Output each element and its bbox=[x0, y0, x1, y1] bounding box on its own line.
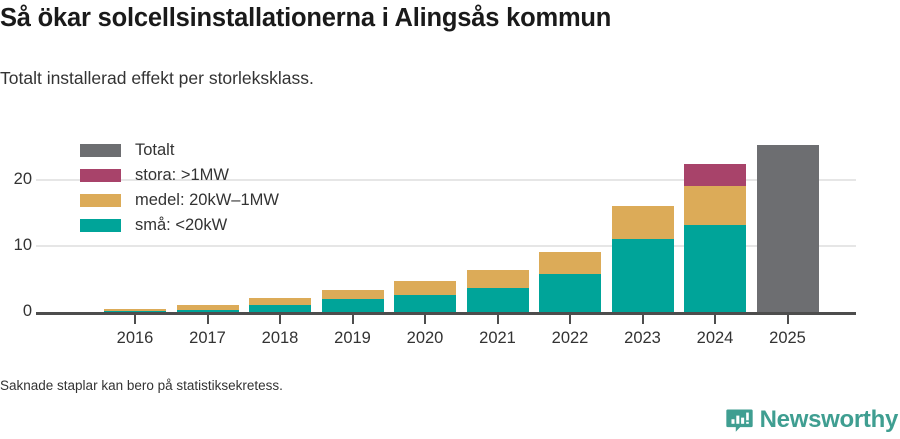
newsworthy-brand: Newsworthy bbox=[726, 406, 898, 434]
legend-swatch bbox=[80, 194, 121, 207]
bar-group[interactable] bbox=[539, 0, 601, 312]
legend-item[interactable]: stora: >1MW bbox=[80, 163, 279, 188]
legend-item[interactable]: Totalt bbox=[80, 138, 279, 163]
x-axis-tick-label: 2023 bbox=[602, 329, 684, 348]
x-axis-tick bbox=[569, 315, 571, 324]
bar-segment-sma[interactable] bbox=[322, 299, 384, 312]
y-axis-tick-label: 10 bbox=[0, 237, 32, 254]
bar-group[interactable] bbox=[757, 0, 819, 312]
legend-swatch bbox=[80, 219, 121, 232]
legend-swatch bbox=[80, 169, 121, 182]
x-axis-line bbox=[36, 312, 856, 315]
bar-group[interactable] bbox=[612, 0, 674, 312]
x-axis-tick-label: 2016 bbox=[94, 329, 176, 348]
bar-segment-medel[interactable] bbox=[104, 309, 166, 311]
legend-item-label: stora: >1MW bbox=[135, 166, 229, 185]
x-axis-tick bbox=[787, 315, 789, 324]
legend-item-label: små: <20kW bbox=[135, 216, 227, 235]
bar-segment-sma[interactable] bbox=[249, 305, 311, 312]
x-axis-tick-label: 2019 bbox=[312, 329, 394, 348]
bar-segment-medel[interactable] bbox=[684, 186, 746, 225]
bar-segment-sma[interactable] bbox=[467, 288, 529, 312]
legend-item[interactable]: medel: 20kW–1MW bbox=[80, 188, 279, 213]
x-axis-tick bbox=[279, 315, 281, 324]
legend-item-label: Totalt bbox=[135, 141, 174, 160]
brand-wordmark: Newsworthy bbox=[760, 406, 898, 434]
x-axis-tick-label: 2022 bbox=[529, 329, 611, 348]
y-axis-tick-label: 0 bbox=[0, 303, 32, 320]
y-axis-tick-label: 20 bbox=[0, 171, 32, 188]
bar-segment-medel[interactable] bbox=[394, 281, 456, 295]
legend-item-label: medel: 20kW–1MW bbox=[135, 191, 279, 210]
bar-group[interactable] bbox=[684, 0, 746, 312]
bar-segment-sma[interactable] bbox=[684, 225, 746, 312]
bar-segment-sma[interactable] bbox=[612, 239, 674, 312]
x-axis-tick bbox=[424, 315, 426, 324]
x-axis-tick bbox=[497, 315, 499, 324]
x-axis-tick-label: 2021 bbox=[457, 329, 539, 348]
x-axis-tick bbox=[352, 315, 354, 324]
x-axis-tick-label: 2020 bbox=[384, 329, 466, 348]
bar-segment-sma[interactable] bbox=[539, 274, 601, 312]
chart-page: Så ökar solcellsinstallationerna i Aling… bbox=[0, 0, 900, 439]
bar-segment-sma[interactable] bbox=[394, 295, 456, 312]
bar-group[interactable] bbox=[467, 0, 529, 312]
bar-segment-medel[interactable] bbox=[612, 206, 674, 239]
x-axis-tick-label: 2025 bbox=[747, 329, 829, 348]
bar-segment-medel[interactable] bbox=[467, 270, 529, 288]
x-axis-tick-label: 2017 bbox=[167, 329, 249, 348]
chart-legend: Totaltstora: >1MWmedel: 20kW–1MWsmå: <20… bbox=[80, 138, 279, 238]
chart-footnote: Saknade staplar kan bero på statistiksek… bbox=[0, 378, 283, 393]
bar-segment-medel[interactable] bbox=[249, 298, 311, 305]
x-axis-tick bbox=[207, 315, 209, 324]
bar-segment-stora[interactable] bbox=[684, 164, 746, 186]
x-axis-tick-label: 2024 bbox=[674, 329, 756, 348]
bar-segment-medel[interactable] bbox=[322, 290, 384, 299]
legend-item[interactable]: små: <20kW bbox=[80, 213, 279, 238]
x-axis-tick bbox=[642, 315, 644, 324]
newsworthy-bar-chart-bubble-icon bbox=[726, 407, 753, 434]
x-axis-tick-label: 2018 bbox=[239, 329, 321, 348]
x-axis-tick bbox=[134, 315, 136, 324]
bar-segment-medel[interactable] bbox=[177, 305, 239, 309]
bar-group[interactable] bbox=[322, 0, 384, 312]
x-axis-tick bbox=[714, 315, 716, 324]
bar-segment-total[interactable] bbox=[757, 145, 819, 312]
bar-group[interactable] bbox=[394, 0, 456, 312]
bar-segment-medel[interactable] bbox=[539, 252, 601, 274]
legend-swatch bbox=[80, 144, 121, 157]
